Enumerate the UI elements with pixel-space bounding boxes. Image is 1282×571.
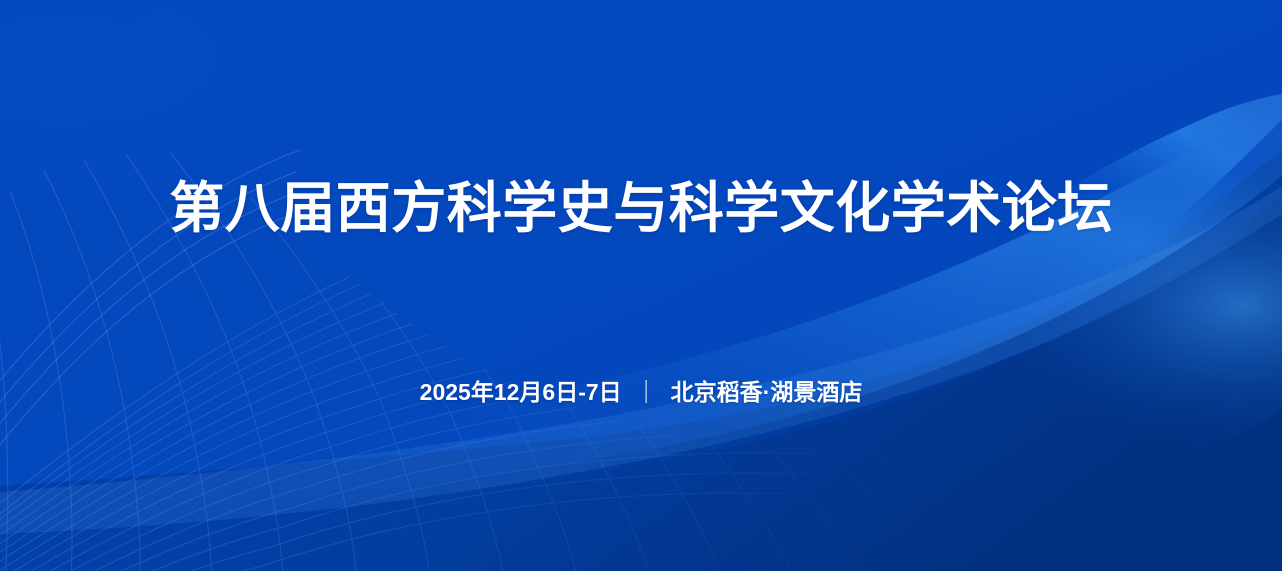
page-title: 第八届西方科学史与科学文化学术论坛 bbox=[0, 172, 1282, 244]
event-meta: 2025年12月6日-7日｜北京稻香·湖景酒店 bbox=[0, 374, 1282, 408]
meta-separator: ｜ bbox=[622, 376, 671, 408]
banner-content: 第八届西方科学史与科学文化学术论坛 2025年12月6日-7日｜北京稻香·湖景酒… bbox=[0, 0, 1282, 571]
conference-banner: 第八届西方科学史与科学文化学术论坛 2025年12月6日-7日｜北京稻香·湖景酒… bbox=[0, 0, 1282, 571]
event-date: 2025年12月6日-7日 bbox=[420, 376, 622, 408]
event-venue: 北京稻香·湖景酒店 bbox=[671, 376, 863, 408]
